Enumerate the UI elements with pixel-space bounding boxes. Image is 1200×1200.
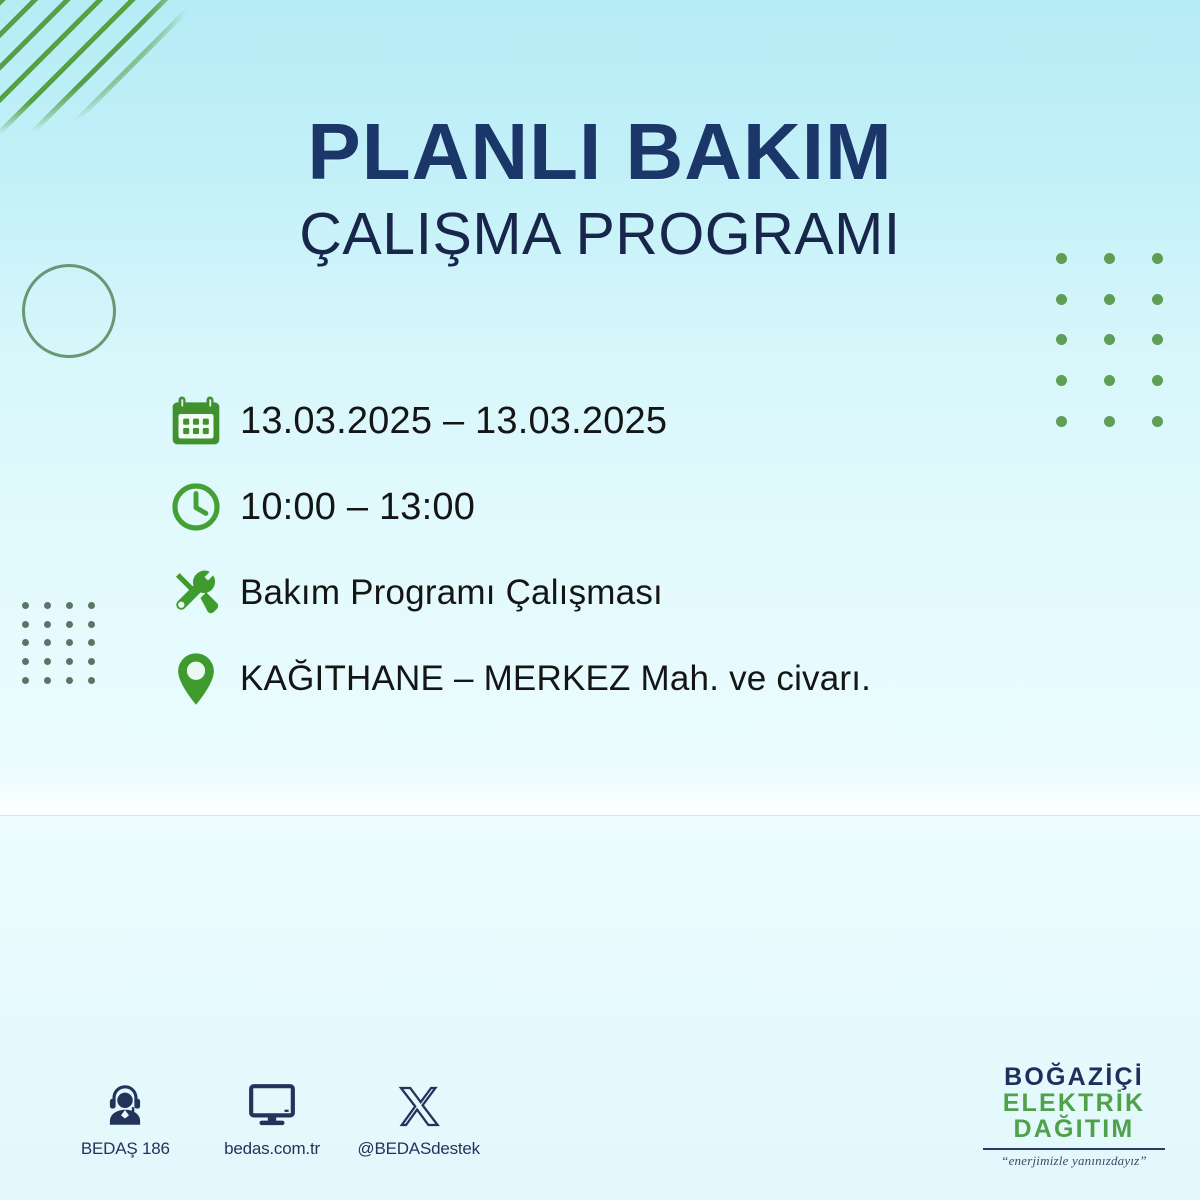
dot: [22, 677, 29, 684]
dot: [22, 621, 29, 628]
dot: [1152, 375, 1163, 386]
detail-row-date: 13.03.2025 – 13.03.2025: [168, 378, 1128, 464]
dot: [66, 602, 73, 609]
bedas-brand-logo: BOĞAZİÇİ ELEKTRİK DAĞITIM “enerjimizle y…: [974, 1065, 1174, 1169]
dot: [66, 639, 73, 646]
detail-row-time: 10:00 – 13:00: [168, 464, 1128, 550]
detail-row-work-type: Bakım Programı Çalışması: [168, 550, 1128, 636]
dot: [1104, 334, 1115, 345]
planned-maintenance-poster: PLANLI BAKIM ÇALIŞMA PROGRAMI: [0, 0, 1200, 1200]
poster-heading: PLANLI BAKIM ÇALIŞMA PROGRAMI: [0, 112, 1200, 266]
contact-website-label: bedas.com.tr: [224, 1139, 320, 1159]
maintenance-details-list: 13.03.2025 – 13.03.2025 10:00 – 13:00: [168, 378, 1128, 722]
contact-phone[interactable]: BEDAŞ 186: [52, 1078, 199, 1159]
background-seam-glow: [0, 772, 1200, 816]
dot: [88, 621, 95, 628]
dot: [22, 602, 29, 609]
brand-line-elektrik: ELEKTRİK: [974, 1090, 1174, 1116]
dot: [88, 602, 95, 609]
page-title: PLANLI BAKIM: [0, 112, 1200, 192]
detail-row-location: KAĞITHANE – MERKEZ Mah. ve civarı.: [168, 636, 1128, 722]
dot: [1152, 334, 1163, 345]
detail-text-date: 13.03.2025 – 13.03.2025: [240, 400, 667, 443]
clock-icon: [168, 476, 240, 538]
contact-website[interactable]: bedas.com.tr: [199, 1078, 346, 1159]
tools-icon: [168, 562, 240, 624]
dot: [1104, 294, 1115, 305]
dot: [22, 639, 29, 646]
dot: [88, 639, 95, 646]
dot: [44, 602, 51, 609]
dot: [44, 677, 51, 684]
x-twitter-icon: [395, 1078, 443, 1130]
detail-text-time: 10:00 – 13:00: [240, 486, 475, 529]
dot: [66, 658, 73, 665]
circle-outline-decoration: [22, 264, 116, 358]
dot: [66, 677, 73, 684]
brand-line-dagitim: DAĞITIM: [974, 1116, 1174, 1142]
dot: [1152, 416, 1163, 427]
dot: [88, 677, 95, 684]
dot: [44, 639, 51, 646]
contact-social[interactable]: @BEDASdestek: [345, 1078, 492, 1159]
dot: [22, 658, 29, 665]
brand-divider: [983, 1148, 1165, 1150]
monitor-icon: [247, 1078, 297, 1130]
calendar-icon: [168, 390, 240, 452]
dot: [44, 658, 51, 665]
brand-line-bogazici: BOĞAZİÇİ: [974, 1065, 1174, 1090]
dot: [1056, 334, 1067, 345]
detail-text-work-type: Bakım Programı Çalışması: [240, 573, 663, 613]
brand-tagline: “enerjimizle yanınızdayız”: [974, 1153, 1174, 1169]
dot: [44, 621, 51, 628]
dot: [88, 658, 95, 665]
dot: [1152, 294, 1163, 305]
dot-grid-left-decoration: [14, 596, 102, 690]
location-pin-icon: [168, 648, 240, 710]
contact-phone-label: BEDAŞ 186: [81, 1139, 170, 1159]
page-subtitle: ÇALIŞMA PROGRAMI: [0, 204, 1200, 266]
dot: [1056, 294, 1067, 305]
footer-contacts: BEDAŞ 186 bedas.com.tr @BEDASdestek: [52, 1078, 492, 1159]
call-center-agent-icon: [100, 1078, 150, 1130]
dot: [66, 621, 73, 628]
detail-text-location: KAĞITHANE – MERKEZ Mah. ve civarı.: [240, 659, 871, 699]
contact-social-label: @BEDASdestek: [357, 1139, 480, 1159]
background-seam-line: [0, 815, 1200, 816]
